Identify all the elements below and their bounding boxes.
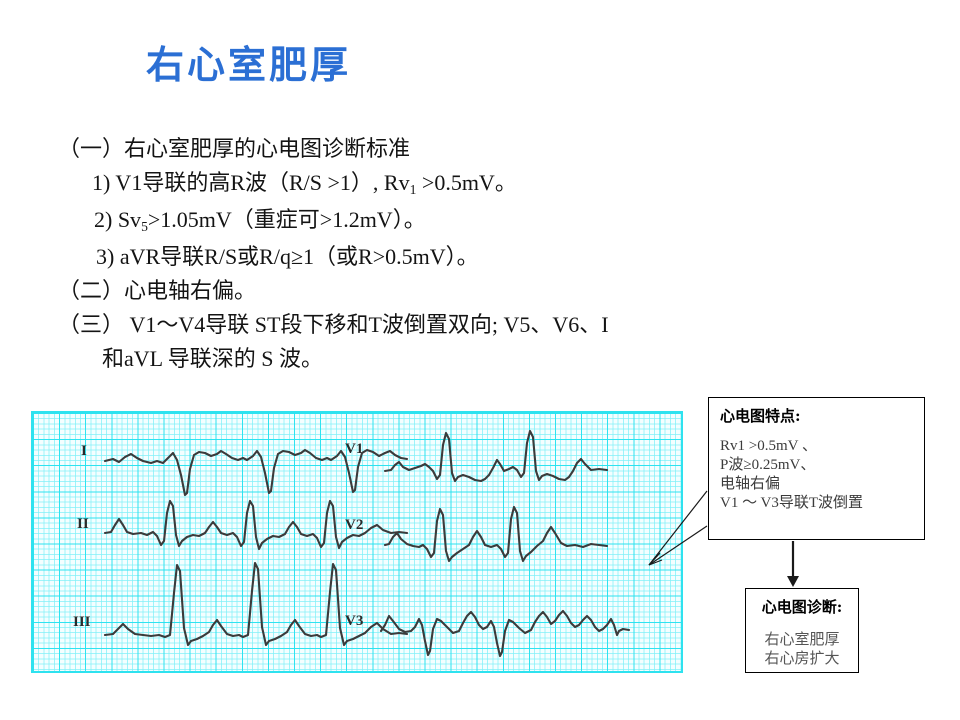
ecg-trace-lead-V3 bbox=[381, 611, 629, 656]
callout-features-line-3: 电轴右偏 bbox=[720, 475, 915, 494]
ecg-lead-label-III: III bbox=[73, 614, 91, 630]
section-one-heading: （一）右心室肥厚的心电图诊断标准 bbox=[58, 132, 738, 166]
ecg-traces: I II III V1 V2 V3 bbox=[33, 413, 681, 671]
criterion-1-subscript: 1 bbox=[410, 182, 417, 197]
criterion-3: 3) aVR导联R/S或R/q≥1（或R>0.5mV）。 bbox=[58, 240, 738, 274]
callout-features-line-4: V1 ～ V3导联T波倒置 bbox=[720, 494, 915, 513]
criterion-1-suffix: >0.5mV。 bbox=[416, 170, 516, 195]
callout-features-line-1: Rv1 >0.5mV 、 bbox=[720, 437, 915, 456]
slide-canvas: 右心室肥厚 （一）右心室肥厚的心电图诊断标准 1) V1导联的高R波（R/S >… bbox=[0, 0, 960, 720]
ecg-lead-label-II: II bbox=[77, 516, 89, 532]
ecg-trace-lead-I bbox=[105, 450, 407, 495]
ecg-trace-lead-III bbox=[105, 563, 407, 645]
criterion-1-prefix: 1) V1导联的高R波（R/S >1）, Rv bbox=[92, 170, 410, 195]
callout-diagnosis-heading: 心电图诊断: bbox=[746, 596, 858, 617]
criterion-2-subscript: 5 bbox=[141, 219, 148, 234]
ecg-trace-lead-V1 bbox=[385, 431, 607, 481]
criterion-1: 1) V1导联的高R波（R/S >1）, Rv1 >0.5mV。 bbox=[58, 166, 738, 203]
criterion-2-prefix: 2) Sv bbox=[94, 207, 141, 232]
ecg-trace-lead-V2 bbox=[385, 507, 607, 561]
criterion-2: 2) Sv5>1.05mV（重症可>1.2mV）。 bbox=[58, 203, 738, 240]
page-title: 右心室肥厚 bbox=[146, 34, 351, 89]
callout-features-heading: 心电图特点: bbox=[720, 405, 915, 426]
callout-ecg-features: 心电图特点: Rv1 >0.5mV 、 P波≥0.25mV、 电轴右偏 V1 ～… bbox=[708, 397, 925, 540]
callout-ecg-diagnosis: 心电图诊断: 右心室肥厚 右心房扩大 bbox=[745, 588, 859, 673]
section-two: （二）心电轴右偏。 bbox=[58, 274, 738, 308]
body-text-block: （一）右心室肥厚的心电图诊断标准 1) V1导联的高R波（R/S >1）, Rv… bbox=[58, 132, 738, 376]
callout-diagnosis-line-1: 右心室肥厚 bbox=[746, 631, 858, 650]
ecg-lead-label-I: I bbox=[81, 443, 87, 459]
ecg-strip-image: I II III V1 V2 V3 bbox=[31, 411, 683, 673]
ecg-lead-label-V2: V2 bbox=[345, 517, 363, 533]
callout-features-line-2: P波≥0.25mV、 bbox=[720, 456, 915, 475]
section-three-line-2: 和aVL 导联深的 S 波。 bbox=[58, 342, 738, 376]
section-three-line-1: （三） V1～V4导联 ST段下移和T波倒置双向; V5、V6、I bbox=[58, 308, 738, 342]
ecg-lead-label-V3: V3 bbox=[345, 613, 363, 629]
criterion-2-suffix: >1.05mV（重症可>1.2mV）。 bbox=[148, 207, 426, 232]
flow-arrow-head bbox=[787, 576, 799, 587]
callout-diagnosis-line-2: 右心房扩大 bbox=[746, 650, 858, 669]
